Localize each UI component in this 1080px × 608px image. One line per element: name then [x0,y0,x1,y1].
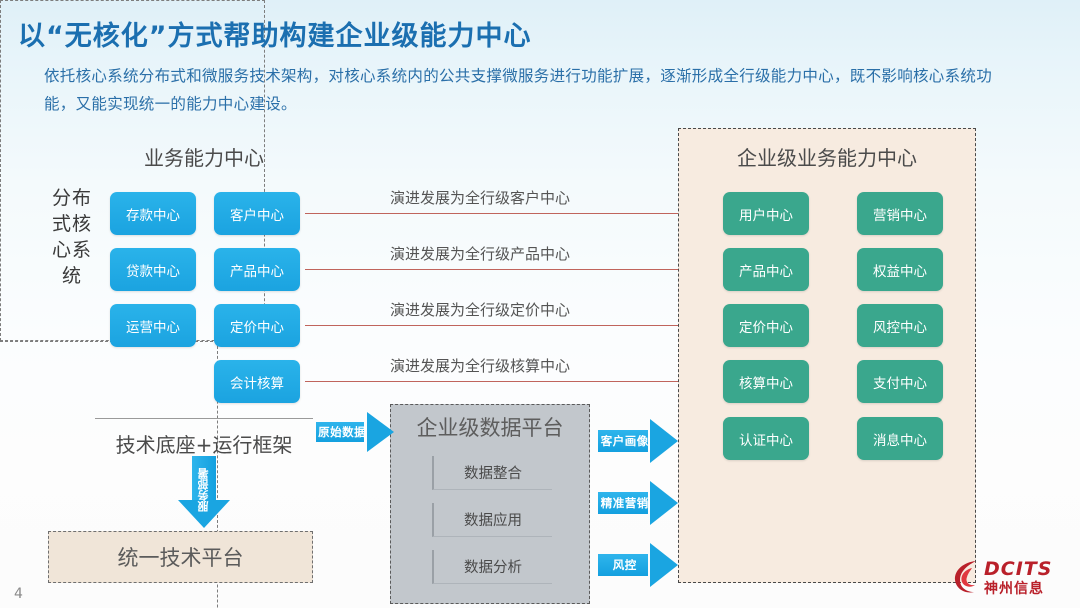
page-title: 以“无核化”方式帮助构建企业级能力中心 [18,14,532,53]
flow-arrow-down-label: 服务部署 [196,468,212,512]
ent-box-rights[interactable]: 权益中心 [857,248,943,291]
data-platform-item-analysis[interactable]: 数据分析 [432,550,552,584]
capability-box-accounting[interactable]: 会计核算 [214,360,300,403]
flow-arrow-risk-control-label: 风控 [600,557,650,573]
business-center-title: 业务能力中心 [95,142,313,171]
ent-box-payment[interactable]: 支付中心 [857,360,943,403]
ent-box-pricing[interactable]: 定价中心 [723,304,809,347]
evolution-line-1 [305,213,718,214]
ent-box-risk[interactable]: 风控中心 [857,304,943,347]
flow-arrow-precision-marketing: 精准营销 [598,481,678,525]
evolution-label-4: 演进发展为全行级核算中心 [390,355,570,376]
ent-box-accounting[interactable]: 核算中心 [723,360,809,403]
evolution-line-2 [305,269,718,270]
ent-box-message[interactable]: 消息中心 [857,417,943,460]
arrow-head [367,412,394,452]
evolution-line-4 [305,381,718,382]
evolution-label-2: 演进发展为全行级产品中心 [390,243,570,264]
capability-box-customer[interactable]: 客户中心 [214,192,300,235]
slide-canvas: 以“无核化”方式帮助构建企业级能力中心 依托核心系统分布式和微服务技术架构，对核… [0,0,1080,608]
unified-tech-platform: 统一技术平台 [48,531,313,583]
capability-box-pricing[interactable]: 定价中心 [214,304,300,347]
flow-arrow-raw-data: 原始数据 [316,412,394,452]
data-platform-title: 企业级数据平台 [390,412,590,442]
ent-box-marketing[interactable]: 营销中心 [857,192,943,235]
dcits-logo-icon [950,558,982,596]
evolution-label-1: 演进发展为全行级客户中心 [390,187,570,208]
ent-box-user[interactable]: 用户中心 [723,192,809,235]
arrow-head [650,419,678,463]
page-number: 4 [14,586,23,602]
evolution-label-3: 演进发展为全行级定价中心 [390,299,570,320]
capability-box-product[interactable]: 产品中心 [214,248,300,291]
logo-sub-text: 神州信息 [984,578,1044,598]
arrow-head [650,481,678,525]
capability-box-deposit[interactable]: 存款中心 [110,192,196,235]
page-subtitle: 依托核心系统分布式和微服务技术架构，对核心系统内的公共支撑微服务进行功能扩展，逐… [44,62,1004,118]
flow-arrow-precision-marketing-label: 精准营销 [600,495,650,511]
distributed-core-label: 分布式核心系统 [52,185,92,289]
data-platform-item-application[interactable]: 数据应用 [432,503,552,537]
flow-arrow-customer-profile-label: 客户画像 [600,433,650,449]
flow-arrow-risk-control: 风控 [598,543,678,587]
evolution-line-3 [305,325,718,326]
brand-logo: DCITS 神州信息 [950,556,1070,600]
arrow-head [650,543,678,587]
logo-main-text: DCITS [984,558,1052,580]
capability-box-loan[interactable]: 贷款中心 [110,248,196,291]
capability-box-ops[interactable]: 运营中心 [110,304,196,347]
enterprise-capability-title: 企业级业务能力中心 [678,142,976,171]
ent-box-auth[interactable]: 认证中心 [723,417,809,460]
data-platform-item-integration[interactable]: 数据整合 [432,456,552,490]
ent-box-product[interactable]: 产品中心 [723,248,809,291]
flow-arrow-down: 服务部署 [178,456,230,528]
flow-arrow-raw-data-label: 原始数据 [318,424,366,440]
flow-arrow-customer-profile: 客户画像 [598,419,678,463]
